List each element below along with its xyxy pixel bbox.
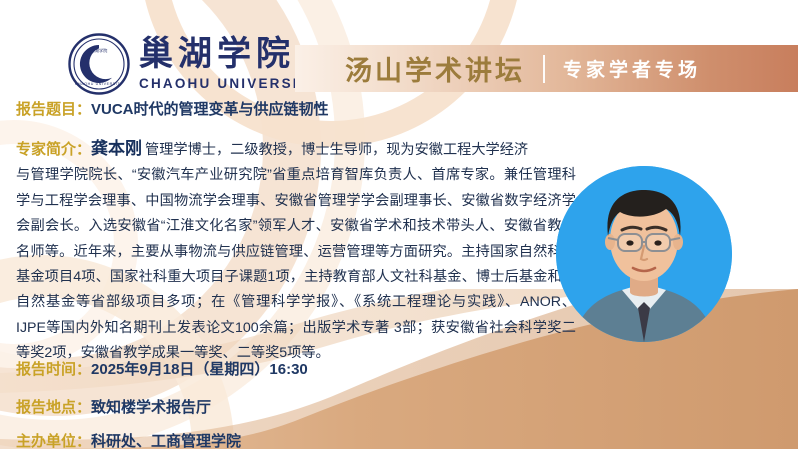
svg-text:巢湖学院: 巢湖学院	[91, 47, 109, 54]
report-organizer-row: 主办单位： 科研处、工商管理学院	[16, 430, 241, 449]
report-title-label: 报告题目：	[16, 98, 91, 119]
university-seal-icon: 巢湖学院 CHAOHU UNIVERSITY	[68, 33, 130, 95]
poster-header: 巢湖学院 CHAOHU UNIVERSITY 巢湖学院 CHAOHU UNIVE…	[0, 0, 798, 96]
report-time-row: 报告时间： 2025年9月18日（星期四）16:30	[16, 358, 308, 379]
speaker-bio-first-line: 管理学博士，二级教授，博士生导师，现为安徽工程大学经济	[145, 142, 528, 158]
report-place-row: 报告地点： 致知楼学术报告厅	[16, 396, 211, 417]
speaker-bio-block: 专家简介：龚本刚管理学博士，二级教授，博士生导师，现为安徽工程大学经济与管理学院…	[16, 136, 576, 367]
speaker-name: 龚本刚	[91, 139, 142, 158]
speaker-portrait-image	[556, 166, 732, 342]
report-organizer-value: 科研处、工商管理学院	[91, 430, 241, 449]
banner-divider	[543, 55, 545, 83]
svg-text:CHAOHU UNIVERSITY: CHAOHU UNIVERSITY	[75, 82, 123, 86]
report-place-label: 报告地点：	[16, 396, 91, 417]
report-place-value: 致知楼学术报告厅	[91, 396, 211, 417]
forum-banner: 汤山学术讲坛 专家学者专场	[295, 45, 798, 92]
report-title-value: VUCA时代的管理变革与供应链韧性	[91, 98, 329, 119]
speaker-bio-label: 专家简介：	[16, 141, 91, 158]
speaker-bio-text: 专家简介：龚本刚管理学博士，二级教授，博士生导师，现为安徽工程大学经济与管理学院…	[16, 136, 576, 367]
speaker-bio-body: 与管理学院院长、“安徽汽车产业研究院”省重点培育智库负责人、首席专家。兼任管理科…	[16, 163, 576, 366]
report-title-row: 报告题目： VUCA时代的管理变革与供应链韧性	[16, 98, 329, 119]
university-name-en: CHAOHU UNIVERSITY	[139, 77, 320, 91]
report-organizer-label: 主办单位：	[16, 430, 91, 449]
forum-subtitle: 专家学者专场	[563, 55, 701, 82]
report-time-value: 2025年9月18日（星期四）16:30	[91, 358, 308, 379]
report-time-label: 报告时间：	[16, 358, 91, 379]
forum-title: 汤山学术讲坛	[345, 49, 525, 88]
poster-canvas: 巢湖学院 CHAOHU UNIVERSITY 巢湖学院 CHAOHU UNIVE…	[0, 0, 798, 449]
university-name-cn: 巢湖学院	[139, 38, 320, 72]
speaker-portrait	[556, 166, 732, 342]
university-logo: 巢湖学院 CHAOHU UNIVERSITY 巢湖学院 CHAOHU UNIVE…	[68, 33, 320, 95]
